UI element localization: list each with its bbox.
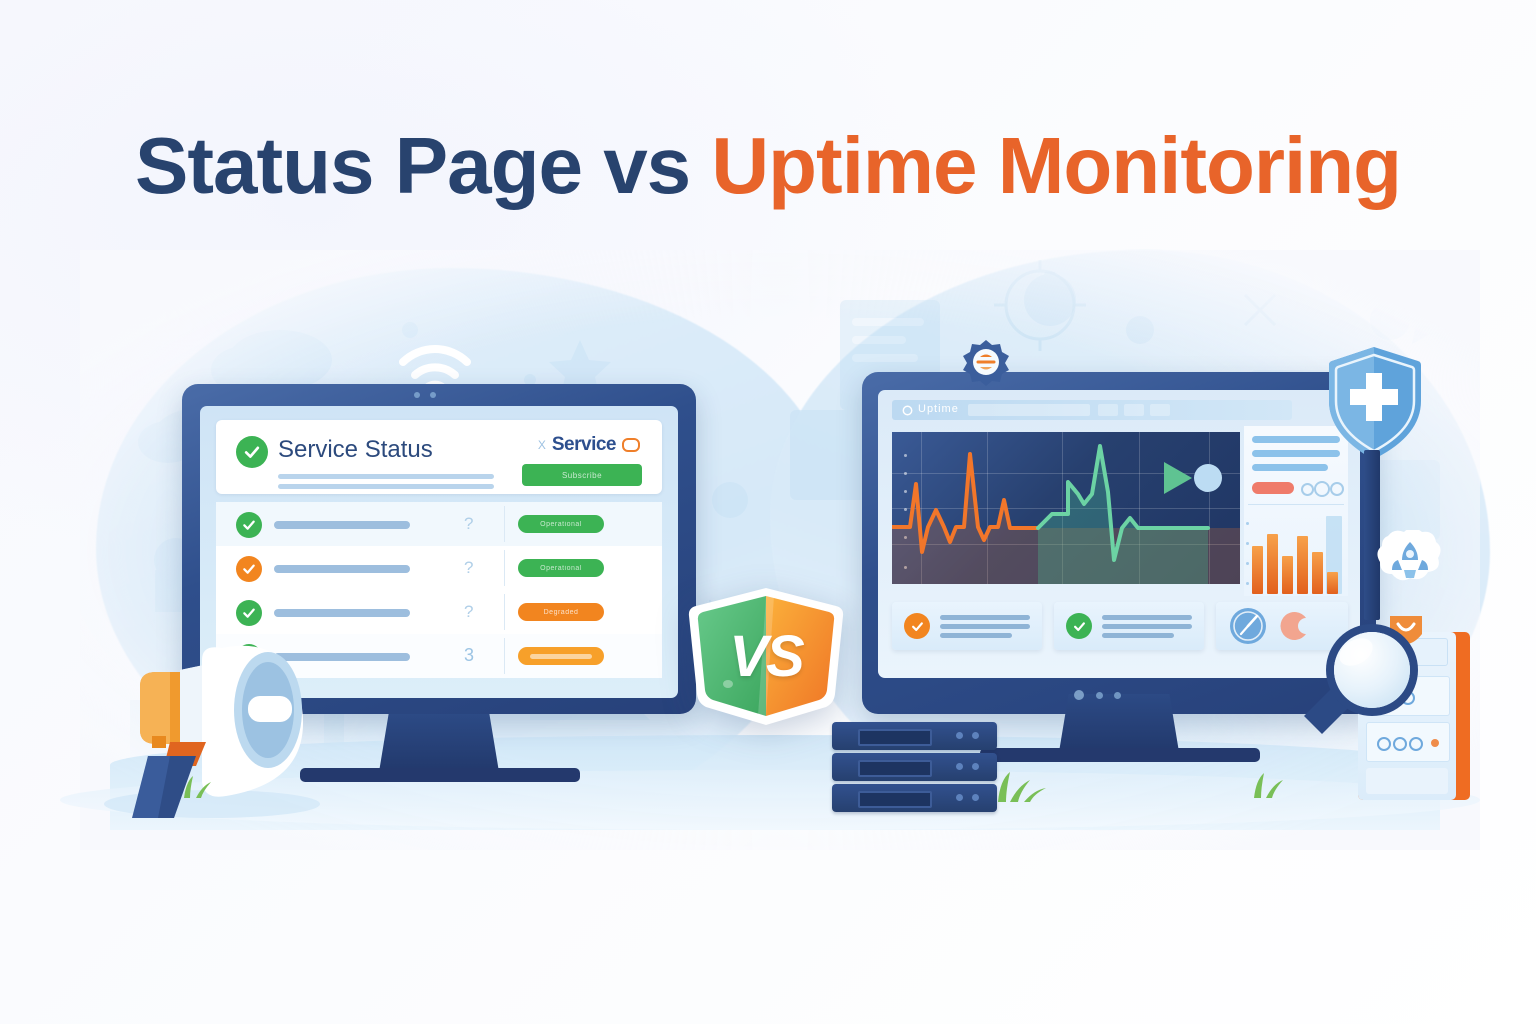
shield-check-icon xyxy=(1326,345,1422,460)
monitor-stand-neck-right xyxy=(1059,694,1179,752)
header-status-icon xyxy=(236,436,268,468)
row-divider xyxy=(504,550,505,586)
toolbar-field[interactable] xyxy=(968,404,1090,416)
sidebar-tick xyxy=(1246,522,1249,525)
bezel-dot xyxy=(1096,692,1103,699)
server-led xyxy=(972,794,979,801)
toolbar-chip[interactable] xyxy=(1098,404,1118,416)
brand-prefix: X xyxy=(538,438,546,452)
page-title: Status Page vs Uptime Monitoring xyxy=(0,120,1536,212)
illustration-canvas: Status Page vs Uptime Monitoring Service… xyxy=(0,0,1536,1024)
list-item[interactable] xyxy=(1054,602,1204,650)
row-badge-bar xyxy=(530,654,592,659)
header-placeholder-line xyxy=(278,474,494,479)
row-label-placeholder xyxy=(274,565,410,573)
card-lines xyxy=(1102,611,1192,642)
row-divider xyxy=(504,594,505,630)
chart-series-svg xyxy=(892,432,1240,584)
monitor-stand-base-left xyxy=(300,768,580,782)
rocket-badge-icon xyxy=(1374,530,1446,592)
sidebar-mini-bar xyxy=(1267,534,1278,594)
sidebar-mini-bar xyxy=(1297,536,1308,594)
sidebar-ring xyxy=(1301,483,1314,496)
row-badge-label: Operational xyxy=(540,521,582,528)
check-icon xyxy=(241,517,257,533)
vs-label: VS xyxy=(686,584,846,729)
sidebar-mini-bar xyxy=(1282,556,1293,594)
subscribe-label: Subscribe xyxy=(562,471,602,480)
sidebar-ring xyxy=(1330,482,1344,496)
service-status-header-card: Service Status X Service Subscribe xyxy=(216,420,662,494)
subscribe-button[interactable]: Subscribe xyxy=(522,464,642,486)
grass-decor xyxy=(178,768,222,798)
title-part-accent: Uptime Monitoring xyxy=(711,121,1401,210)
sidebar-text-line xyxy=(1252,464,1328,471)
row-badge-label: Operational xyxy=(540,565,582,572)
row-badge: Degraded xyxy=(518,603,604,621)
grass-decor xyxy=(988,762,1048,802)
server-unit xyxy=(832,753,997,781)
brand-mark-icon xyxy=(622,438,640,452)
row-status-icon xyxy=(236,512,262,538)
row-label-placeholder xyxy=(274,609,410,617)
sidebar-mini-bar xyxy=(1312,552,1323,594)
row-meta: ? xyxy=(464,558,473,578)
row-badge-label: Degraded xyxy=(544,609,579,616)
server-led xyxy=(956,763,963,770)
toolbar-icon xyxy=(902,403,913,421)
check-icon xyxy=(242,442,262,462)
server-unit xyxy=(832,722,997,750)
uptime-chart-panel xyxy=(892,432,1240,584)
gauge-icon xyxy=(1226,604,1270,648)
row-badge: Operational xyxy=(518,515,604,533)
server-slot xyxy=(858,729,932,746)
table-row[interactable]: ? Operational xyxy=(216,502,662,547)
magnifier-icon xyxy=(1288,612,1428,752)
server-unit xyxy=(832,784,997,812)
screen-toolbar[interactable]: Uptime xyxy=(892,400,1292,420)
play-icon xyxy=(1164,462,1192,494)
row-status-icon xyxy=(236,556,262,582)
bezel-dot xyxy=(1114,692,1121,699)
brand-label: Service xyxy=(552,434,616,456)
sidebar-ring xyxy=(1314,481,1330,497)
row-label-placeholder xyxy=(274,521,410,529)
server-led xyxy=(972,763,979,770)
server-rack-icon xyxy=(832,722,997,814)
monitor-stand-base-right xyxy=(980,748,1260,762)
sidebar-tick xyxy=(1246,582,1249,585)
check-icon xyxy=(910,619,925,634)
check-icon xyxy=(241,561,257,577)
title-part-dark: Status Page vs xyxy=(135,121,711,210)
toolbar-chip[interactable] xyxy=(1124,404,1144,416)
server-led xyxy=(972,732,979,739)
row-divider xyxy=(504,506,505,542)
row-divider xyxy=(504,638,505,674)
toolbar-chip[interactable] xyxy=(1150,404,1170,416)
sidebar-mini-bar xyxy=(1252,546,1263,594)
monitor-stand-neck-left xyxy=(379,714,499,772)
sidebar-tick xyxy=(1246,542,1249,545)
vs-badge: VS xyxy=(686,584,846,729)
server-slot xyxy=(858,791,932,808)
toolbar-label: Uptime xyxy=(918,403,959,415)
row-meta: ? xyxy=(464,602,473,622)
sidebar-tick xyxy=(1246,562,1249,565)
bezel-indicator xyxy=(1074,690,1084,700)
sidebar-mini-bar xyxy=(1327,572,1338,594)
card-lines xyxy=(940,611,1030,642)
bezel-dot xyxy=(414,392,420,398)
service-status-title: Service Status xyxy=(278,436,433,464)
server-led xyxy=(956,732,963,739)
row-meta: ? xyxy=(464,514,473,534)
header-placeholder-line xyxy=(278,484,494,489)
status-dot xyxy=(1194,464,1222,492)
row-badge: Operational xyxy=(518,559,604,577)
card-status-icon xyxy=(1066,613,1092,639)
table-row[interactable]: ? Operational xyxy=(216,546,662,591)
row-badge xyxy=(518,647,604,665)
card-status-icon xyxy=(904,613,930,639)
sidebar-divider xyxy=(1248,504,1344,505)
list-item[interactable] xyxy=(892,602,1042,650)
row-meta: 3 xyxy=(464,645,474,666)
bezel-dot xyxy=(430,392,436,398)
grass-decor xyxy=(1246,764,1296,798)
check-icon xyxy=(1072,619,1087,634)
panel-footer xyxy=(1366,768,1448,794)
sidebar-alert-bar xyxy=(1252,482,1294,494)
server-led xyxy=(956,794,963,801)
brand-logo: X Service xyxy=(538,434,640,456)
gear-badge-icon xyxy=(962,338,1010,386)
server-slot xyxy=(858,760,932,777)
